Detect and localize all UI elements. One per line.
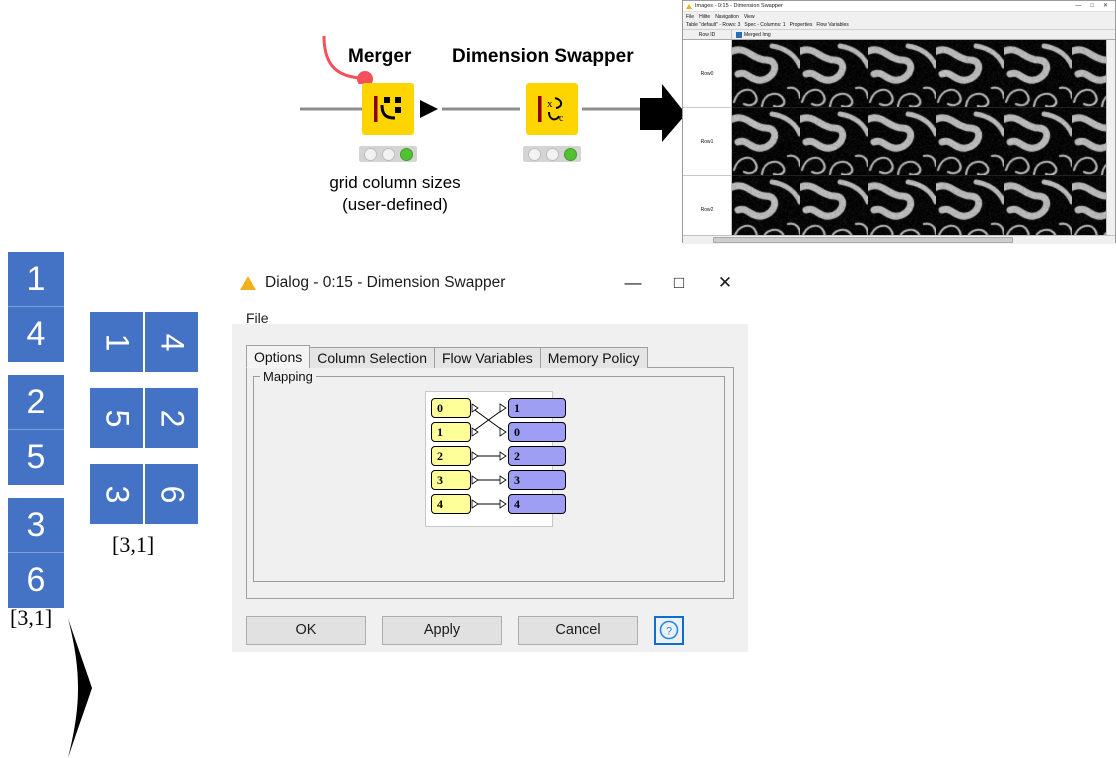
tab-options[interactable]: Options: [246, 345, 310, 368]
mapping-target-item[interactable]: 1: [508, 398, 566, 418]
viewer-image-cells: [732, 40, 1115, 244]
viewer-thumbnail: [936, 176, 1004, 243]
knime-logo-icon: [240, 276, 256, 290]
source-grid-pair: 1 4: [8, 252, 64, 362]
maximize-button[interactable]: □: [656, 263, 702, 303]
node-title-dimension-swapper: Dimension Swapper: [452, 46, 634, 68]
node-merger[interactable]: [362, 83, 414, 135]
result-cell: 2: [145, 388, 198, 448]
knime-workflow-canvas: Merger Dimension Swapper x c: [240, 0, 690, 240]
maximize-icon[interactable]: □: [1090, 3, 1094, 9]
viewer-thumbnail: [936, 108, 1004, 175]
status-led-executed: [400, 148, 413, 161]
dialog-titlebar: Dialog - 0:15 - Dimension Swapper — □ ✕: [232, 262, 748, 304]
options-tab-panel: Mapping: [246, 367, 734, 599]
viewer-thumbnail: [800, 108, 868, 175]
viewer-titlebar: Images - 0:15 - Dimension Swapper — □ ✕: [683, 1, 1115, 12]
viewer-menu-navigation[interactable]: Navigation: [715, 14, 739, 20]
viewer-row-id[interactable]: Row2: [683, 176, 731, 244]
result-cell: 1: [90, 312, 143, 372]
close-icon[interactable]: ✕: [1103, 3, 1108, 9]
result-cell: 6: [145, 464, 198, 524]
column-header-row-id[interactable]: Row ID: [683, 30, 732, 39]
scrollbar-thumb[interactable]: [713, 237, 1013, 243]
tab-column-selection[interactable]: Column Selection: [309, 347, 435, 368]
viewer-image-row[interactable]: [732, 40, 1115, 108]
viewer-thumbnail: [1004, 176, 1072, 243]
result-cell-value: 6: [153, 485, 190, 503]
svg-text:?: ?: [666, 626, 672, 638]
viewer-thumbnail: [732, 40, 800, 107]
viewer-row-id[interactable]: Row0: [683, 40, 731, 108]
result-cell-value: 1: [98, 333, 135, 351]
dialog-window-controls: — □ ✕: [610, 263, 748, 303]
source-grid: 1 4 2 5 3 6: [8, 252, 64, 621]
help-icon: ?: [659, 620, 679, 640]
mapping-source-item[interactable]: 1: [431, 422, 471, 442]
source-grid-dimension-label: [3,1]: [10, 605, 52, 631]
mapping-source-item[interactable]: 2: [431, 446, 471, 466]
merger-node-icon: [362, 83, 414, 135]
mapping-target-item[interactable]: 2: [508, 446, 566, 466]
status-led-idle: [364, 148, 377, 161]
viewer-horizontal-scrollbar[interactable]: [683, 235, 1115, 244]
source-cell: 2: [8, 375, 64, 430]
result-cell: 4: [145, 312, 198, 372]
source-cell: 5: [8, 430, 64, 485]
viewer-menubar: File Hilite Navigation View: [683, 12, 1115, 21]
result-cell-value: 5: [98, 409, 135, 427]
status-led-executed: [564, 148, 577, 161]
viewer-thumbnail: [732, 176, 800, 243]
viewer-thumbnail: [1004, 108, 1072, 175]
tab-memory-policy[interactable]: Memory Policy: [540, 347, 648, 368]
node-status-dimension-swapper: [523, 146, 581, 162]
viewer-menu-hilite[interactable]: Hilite: [699, 14, 710, 20]
source-grid-pair: 2 5: [8, 375, 64, 485]
close-button[interactable]: ✕: [702, 263, 748, 303]
minimize-icon[interactable]: —: [1075, 3, 1081, 9]
result-grid-pair: 1 4: [90, 312, 198, 372]
viewer-thumbnail: [800, 176, 868, 243]
node-dimension-swapper[interactable]: x c: [526, 83, 578, 135]
node-title-merger: Merger: [348, 46, 411, 68]
result-cell-value: 3: [98, 485, 135, 503]
ok-button[interactable]: OK: [246, 616, 366, 645]
result-grid-dimension-label: [3,1]: [112, 532, 154, 558]
dialog-tabstrip: Options Column Selection Flow Variables …: [246, 346, 647, 368]
mapping-source-item[interactable]: 0: [431, 398, 471, 418]
viewer-thumbnail: [1004, 40, 1072, 107]
result-cell: 3: [90, 464, 143, 524]
annotation-line-1: grid column sizes: [285, 172, 505, 194]
result-grid-pair: 3 6: [90, 464, 198, 524]
viewer-thumbnail: [800, 40, 868, 107]
viewer-row-id[interactable]: Row1: [683, 108, 731, 176]
status-led-idle: [528, 148, 541, 161]
minimize-button[interactable]: —: [610, 263, 656, 303]
mapping-source-item[interactable]: 3: [431, 470, 471, 490]
node-status-merger: [359, 146, 417, 162]
apply-button[interactable]: Apply: [382, 616, 502, 645]
column-header-merged-img[interactable]: Merged Img: [732, 30, 1115, 39]
viewer-image-row[interactable]: [732, 176, 1115, 244]
source-cell: 1: [8, 252, 64, 307]
mapping-group: Mapping: [253, 376, 725, 582]
mapping-group-title: Mapping: [260, 369, 316, 384]
column-header-merged-img-label: Merged Img: [744, 32, 771, 38]
viewer-window-controls: — □ ✕: [1075, 3, 1112, 9]
dimension-mapping-canvas[interactable]: 0 1 2 3 4 1 0 2 3 4: [425, 391, 553, 527]
status-led-idle: [382, 148, 395, 161]
status-led-idle: [546, 148, 559, 161]
mapping-source-column: 0 1 2 3 4: [431, 398, 471, 518]
source-cell: 4: [8, 307, 64, 362]
mapping-target-column: 1 0 2 3 4: [508, 398, 566, 518]
image-type-icon: [736, 32, 742, 38]
help-button[interactable]: ?: [654, 616, 684, 645]
viewer-title: Images - 0:15 - Dimension Swapper: [695, 3, 783, 9]
viewer-menu-file[interactable]: File: [686, 14, 694, 20]
viewer-thumbnail: [868, 40, 936, 107]
dialog-body: Options Column Selection Flow Variables …: [232, 324, 748, 652]
result-grid: 1 4 5 2 3 6: [90, 312, 198, 540]
result-cell-value: 4: [153, 333, 190, 351]
viewer-row-id-column: Row0 Row1 Row2: [683, 40, 732, 244]
thick-right-arrow-icon: [64, 618, 94, 758]
mapping-target-item[interactable]: 4: [508, 494, 566, 514]
knime-logo-icon: [686, 4, 692, 9]
viewer-properties-tab[interactable]: Properties: [790, 22, 813, 28]
viewer-thumbnail: [732, 108, 800, 175]
dimension-swapper-node-icon: x c: [526, 83, 578, 135]
source-cell: 6: [8, 553, 64, 608]
result-cell: 5: [90, 388, 143, 448]
source-grid-pair: 3 6: [8, 498, 64, 608]
mapping-source-item[interactable]: 4: [431, 494, 471, 514]
tab-flow-variables[interactable]: Flow Variables: [434, 347, 541, 368]
viewer-column-header-row: Row ID Merged Img: [683, 30, 1115, 40]
workflow-annotation: grid column sizes (user-defined): [285, 172, 505, 216]
annotation-line-2: (user-defined): [285, 194, 505, 216]
viewer-image-row[interactable]: [732, 108, 1115, 176]
mapping-target-item[interactable]: 0: [508, 422, 566, 442]
dimension-swapper-dialog: Dialog - 0:15 - Dimension Swapper — □ ✕ …: [232, 262, 748, 652]
viewer-toolbar: Table "default" - Rows: 3 Spec - Columns…: [683, 21, 1115, 30]
viewer-spec-info[interactable]: Spec - Columns: 1: [744, 22, 785, 28]
viewer-thumbnail: [868, 108, 936, 175]
dialog-title: Dialog - 0:15 - Dimension Swapper: [265, 274, 505, 292]
viewer-table-info: Table "default" - Rows: 3: [686, 22, 740, 28]
cancel-button[interactable]: Cancel: [518, 616, 638, 645]
viewer-menu-view[interactable]: View: [744, 14, 755, 20]
viewer-thumbnail: [868, 176, 936, 243]
dimension-swap-illustration: 1 4 2 5 3 6 [3,1] 1 4 5 2 3 6 [3,1]: [0, 252, 215, 652]
svg-text:x: x: [547, 98, 553, 110]
source-cell: 3: [8, 498, 64, 553]
result-cell-value: 2: [153, 409, 190, 427]
viewer-thumbnail: [936, 40, 1004, 107]
image-viewer-window: Images - 0:15 - Dimension Swapper — □ ✕ …: [682, 0, 1116, 243]
viewer-table-grid: Row0 Row1 Row2: [683, 40, 1115, 244]
mapping-target-item[interactable]: 3: [508, 470, 566, 490]
svg-text:c: c: [559, 113, 564, 124]
viewer-vertical-scrollbar[interactable]: [1106, 40, 1115, 244]
result-grid-pair: 5 2: [90, 388, 198, 448]
dialog-button-bar: OK Apply Cancel ?: [246, 614, 734, 646]
viewer-flow-variables-tab[interactable]: Flow Variables: [816, 22, 848, 28]
